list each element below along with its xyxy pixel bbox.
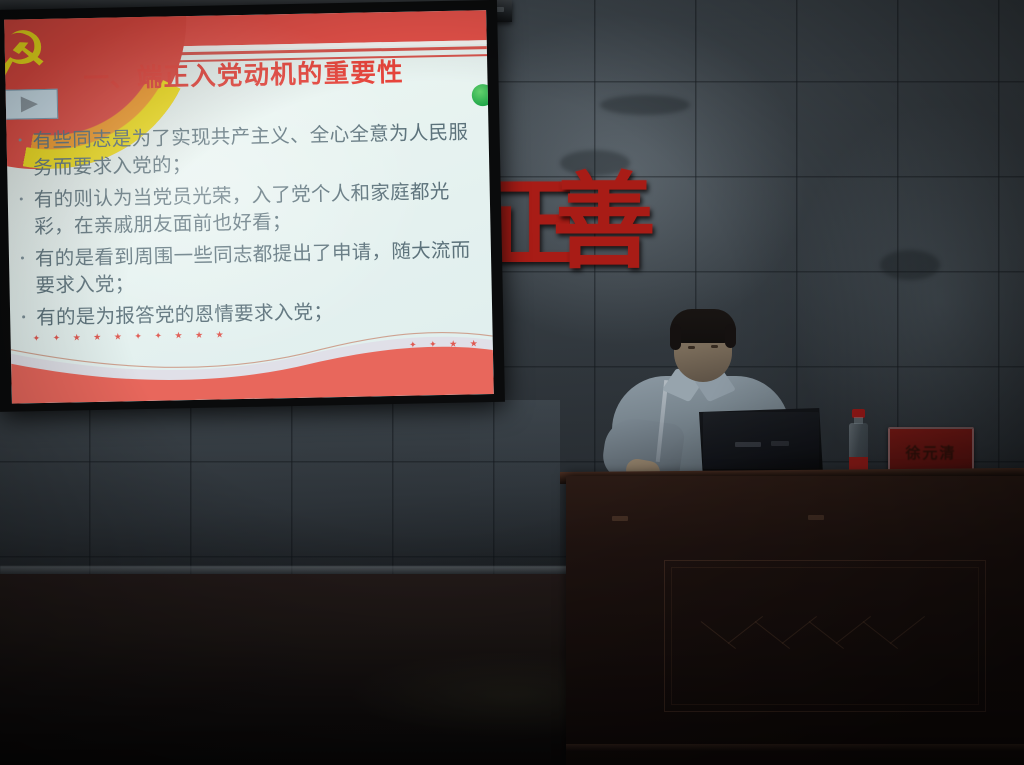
water-bottle[interactable] — [849, 409, 868, 477]
slide-bullet: 有的是看到周围一些同志都提出了申请，随大流而要求入党； — [13, 236, 484, 299]
laptop[interactable] — [699, 408, 823, 474]
hammer-sickle-icon: ☭ — [4, 25, 63, 88]
podium-panel-inner — [671, 567, 979, 705]
wall-smudge — [600, 95, 690, 115]
speaker-eye — [688, 346, 695, 349]
speaker-eye — [711, 345, 718, 348]
slide-bullet: 有的则认为当党员光荣，入了党个人和家庭都光彩，在亲戚朋友面前也好看； — [12, 177, 483, 240]
wall-character-2: 善 — [552, 170, 656, 274]
laptop-lid-marking — [735, 442, 761, 447]
laptop-lid-marking — [771, 441, 789, 446]
slide-surface: ☭ 一、端正入党动机的重要性 有些同志是为了实现共产主义、全心全意为人民服务而要… — [4, 10, 494, 404]
wall-smudge — [880, 250, 940, 280]
slide-bullet: 有些同志是为了实现共产主义、全心全意为人民服务而要求入党的； — [10, 118, 481, 181]
slide-bottom-decoration: ✦ ✦ ★ ★ ★ ✦ ✦ ★ ★ ★ ✦ ✦ ★ ★ — [10, 310, 494, 404]
podium-hardware — [612, 516, 628, 521]
podium-hardware — [808, 515, 824, 520]
slide-bullet-list: 有些同志是为了实现共产主义、全心全意为人民服务而要求入党的； 有的则认为当党员光… — [10, 118, 484, 336]
green-dot-icon — [472, 84, 494, 106]
projection-screen: ☭ 一、端正入党动机的重要性 有些同志是为了实现共产主义、全心全意为人民服务而要… — [0, 0, 505, 412]
podium-base-trim — [566, 744, 1024, 751]
name-placard-text: 徐元清 — [890, 442, 972, 463]
slide-title: 一、端正入党动机的重要性 — [83, 50, 474, 95]
lecture-hall-photo: 正 善 ☭ 一、端正入党动机的重要性 有些同志是为了实现共产主义、全心全意为人民… — [0, 0, 1024, 765]
slide-stars-right: ✦ ✦ ★ ★ — [409, 338, 483, 350]
wave-graphic — [10, 310, 494, 404]
play-icon[interactable] — [21, 96, 38, 112]
laptop-screen — [703, 412, 819, 469]
podium-panel — [664, 560, 986, 712]
media-placeholder-box[interactable] — [4, 89, 58, 120]
speaker-hair-side — [670, 324, 681, 350]
speaker-hair-side — [725, 324, 736, 348]
